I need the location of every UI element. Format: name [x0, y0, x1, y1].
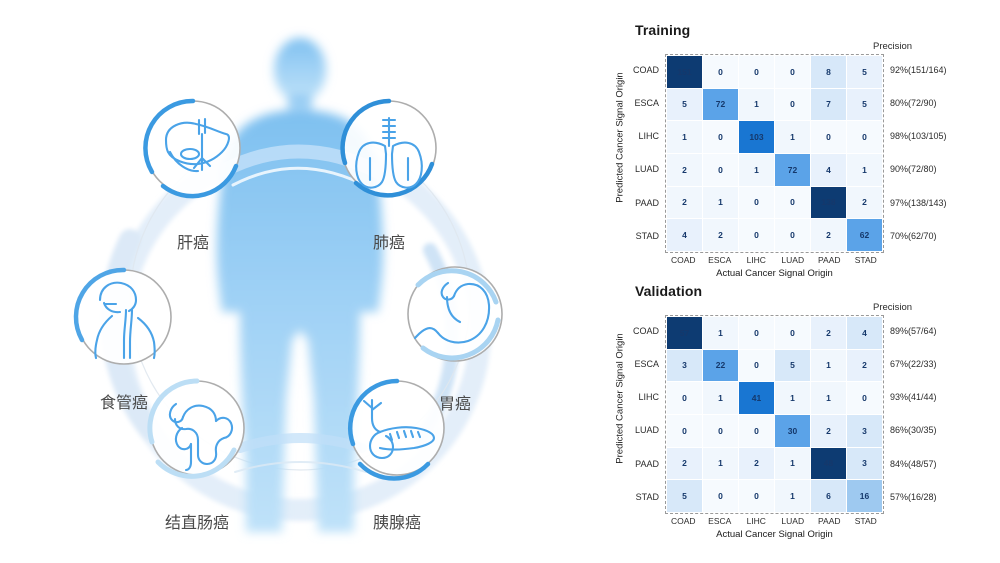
matrix-cell-STAD-ESCA: 0 [703, 480, 739, 513]
illustration-svg: 肝癌 肺癌 [0, 0, 600, 563]
matrix-row: 10103100 [667, 121, 883, 154]
matrix-cell-LUAD-STAD: 1 [847, 153, 883, 186]
matrix-cell-PAAD-PAAD: 138 [811, 186, 847, 219]
col-label-LUAD: LUAD [775, 516, 812, 526]
matrix-cell-LUAD-COAD: 0 [667, 414, 703, 447]
row-label-LUAD: LUAD [618, 153, 663, 186]
matrix-cell-LUAD-LIHC: 1 [739, 153, 775, 186]
validation-row-labels: COADESCALIHCLUADPAADSTAD [618, 315, 663, 514]
matrix-cell-COAD-COAD: 57 [667, 317, 703, 350]
matrix-cell-LIHC-STAD: 0 [847, 382, 883, 415]
validation-precision-header: Precision [873, 302, 912, 313]
matrix-cell-LIHC-COAD: 0 [667, 382, 703, 415]
col-label-PAAD: PAAD [811, 516, 848, 526]
training-col-labels: COADESCALIHCLUADPAADSTAD [665, 255, 884, 265]
matrix-cell-PAAD-LIHC: 2 [739, 447, 775, 480]
matrix-cell-ESCA-STAD: 2 [847, 349, 883, 382]
precision-value-ESCA: 80%(72/90) [890, 87, 1000, 120]
matrix-cell-STAD-LUAD: 0 [775, 219, 811, 252]
matrix-cell-LUAD-LIHC: 0 [739, 414, 775, 447]
matrix-cell-COAD-LIHC: 0 [739, 317, 775, 350]
row-label-STAD: STAD [618, 220, 663, 253]
matrix-cell-ESCA-PAAD: 1 [811, 349, 847, 382]
col-label-LIHC: LIHC [738, 255, 775, 265]
precision-value-LUAD: 86%(30/35) [890, 414, 1000, 447]
training-row-labels: COADESCALIHCLUADPAADSTAD [618, 54, 663, 253]
matrix-cell-COAD-PAAD: 2 [811, 317, 847, 350]
matrix-cell-PAAD-LUAD: 1 [775, 447, 811, 480]
row-label-STAD: STAD [618, 481, 663, 514]
matrix-cell-COAD-COAD: 151 [667, 56, 703, 89]
validation-xaxis-title: Actual Cancer Signal Origin [665, 529, 884, 540]
col-label-COAD: COAD [665, 516, 702, 526]
row-label-LIHC: LIHC [618, 120, 663, 153]
col-label-COAD: COAD [665, 255, 702, 265]
matrix-row: 4200262 [667, 219, 883, 252]
col-label-STAD: STAD [848, 516, 885, 526]
row-label-PAAD: PAAD [618, 187, 663, 220]
matrix-cell-ESCA-COAD: 5 [667, 88, 703, 121]
matrix-cell-LUAD-PAAD: 2 [811, 414, 847, 447]
matrix-cell-PAAD-ESCA: 1 [703, 186, 739, 219]
matrix-cell-COAD-ESCA: 0 [703, 56, 739, 89]
matrix-cell-STAD-ESCA: 2 [703, 219, 739, 252]
matrix-cell-COAD-LUAD: 0 [775, 317, 811, 350]
validation-title: Validation [635, 283, 702, 299]
training-grid: 1510008557210751010310020172412100138242… [665, 54, 884, 253]
precision-value-STAD: 70%(62/70) [890, 220, 1000, 253]
matrix-cell-STAD-STAD: 62 [847, 219, 883, 252]
matrix-cell-LUAD-LUAD: 72 [775, 153, 811, 186]
col-label-STAD: STAD [848, 255, 885, 265]
precision-value-STAD: 57%(16/28) [890, 481, 1000, 514]
node-label-stomach: 胃癌 [439, 394, 471, 413]
validation-precision-values: 89%(57/64)67%(22/33)93%(41/44)86%(30/35)… [890, 315, 1000, 514]
training-title: Training [635, 22, 690, 38]
matrix-row: 5001616 [667, 480, 883, 513]
matrix-cell-LIHC-ESCA: 1 [703, 382, 739, 415]
validation-col-labels: COADESCALIHCLUADPAADSTAD [665, 516, 884, 526]
matrix-cell-PAAD-STAD: 2 [847, 186, 883, 219]
col-label-ESCA: ESCA [702, 516, 739, 526]
matrix-cell-LIHC-LIHC: 103 [739, 121, 775, 154]
matrix-cell-LIHC-COAD: 1 [667, 121, 703, 154]
matrix-cell-ESCA-ESCA: 22 [703, 349, 739, 382]
matrix-cell-LIHC-ESCA: 0 [703, 121, 739, 154]
matrix-cell-LUAD-PAAD: 4 [811, 153, 847, 186]
row-label-LUAD: LUAD [618, 414, 663, 447]
cancer-types-illustration: 肝癌 肺癌 [0, 0, 600, 563]
col-label-PAAD: PAAD [811, 255, 848, 265]
precision-value-PAAD: 97%(138/143) [890, 187, 1000, 220]
col-label-ESCA: ESCA [702, 255, 739, 265]
matrix-cell-COAD-ESCA: 1 [703, 317, 739, 350]
matrix-cell-LUAD-STAD: 3 [847, 414, 883, 447]
confusion-matrices-panel: Training Precision Predicted Cancer Sign… [600, 0, 1000, 563]
precision-value-LUAD: 90%(72/80) [890, 153, 1000, 186]
precision-value-COAD: 89%(57/64) [890, 315, 1000, 348]
precision-value-PAAD: 84%(48/57) [890, 448, 1000, 481]
matrix-cell-PAAD-LIHC: 0 [739, 186, 775, 219]
matrix-row: 0003023 [667, 414, 883, 447]
matrix-cell-ESCA-LIHC: 1 [739, 88, 775, 121]
col-label-LUAD: LUAD [775, 255, 812, 265]
matrix-cell-STAD-PAAD: 6 [811, 480, 847, 513]
matrix-cell-STAD-STAD: 16 [847, 480, 883, 513]
precision-value-ESCA: 67%(22/33) [890, 348, 1000, 381]
matrix-cell-PAAD-COAD: 2 [667, 186, 703, 219]
node-label-lung: 肺癌 [373, 233, 405, 252]
matrix-cell-LIHC-LUAD: 1 [775, 121, 811, 154]
matrix-row: 5721075 [667, 88, 883, 121]
row-label-PAAD: PAAD [618, 448, 663, 481]
matrix-cell-LIHC-LIHC: 41 [739, 382, 775, 415]
matrix-cell-STAD-PAAD: 2 [811, 219, 847, 252]
row-label-LIHC: LIHC [618, 381, 663, 414]
matrix-cell-ESCA-LUAD: 5 [775, 349, 811, 382]
matrix-cell-PAAD-ESCA: 1 [703, 447, 739, 480]
training-xaxis-title: Actual Cancer Signal Origin [665, 268, 884, 279]
matrix-cell-LIHC-PAAD: 0 [811, 121, 847, 154]
matrix-cell-LIHC-STAD: 0 [847, 121, 883, 154]
matrix-cell-STAD-COAD: 5 [667, 480, 703, 513]
matrix-cell-STAD-LIHC: 0 [739, 480, 775, 513]
matrix-cell-STAD-LUAD: 1 [775, 480, 811, 513]
matrix-cell-PAAD-STAD: 3 [847, 447, 883, 480]
matrix-cell-ESCA-LIHC: 0 [739, 349, 775, 382]
node-colorectum[interactable]: 结直肠癌 [150, 381, 244, 532]
row-label-ESCA: ESCA [618, 87, 663, 120]
training-precision-values: 92%(151/164)80%(72/90)98%(103/105)90%(72… [890, 54, 1000, 253]
matrix-cell-LUAD-ESCA: 0 [703, 414, 739, 447]
matrix-cell-LIHC-PAAD: 1 [811, 382, 847, 415]
matrix-cell-ESCA-COAD: 3 [667, 349, 703, 382]
node-label-colorectum: 结直肠癌 [165, 513, 229, 532]
matrix-row: 2121483 [667, 447, 883, 480]
node-label-pancreas: 胰腺癌 [373, 513, 421, 532]
matrix-cell-COAD-STAD: 4 [847, 317, 883, 350]
matrix-cell-ESCA-STAD: 5 [847, 88, 883, 121]
node-label-liver: 肝癌 [177, 233, 209, 252]
matrix-cell-ESCA-LUAD: 0 [775, 88, 811, 121]
matrix-cell-LUAD-LUAD: 30 [775, 414, 811, 447]
matrix-cell-COAD-STAD: 5 [847, 56, 883, 89]
matrix-cell-PAAD-COAD: 2 [667, 447, 703, 480]
row-label-COAD: COAD [618, 315, 663, 348]
matrix-cell-STAD-LIHC: 0 [739, 219, 775, 252]
matrix-cell-ESCA-PAAD: 7 [811, 88, 847, 121]
precision-value-LIHC: 98%(103/105) [890, 120, 1000, 153]
matrix-row: 5710024 [667, 317, 883, 350]
matrix-cell-PAAD-LUAD: 0 [775, 186, 811, 219]
matrix-row: 21001382 [667, 186, 883, 219]
matrix-cell-STAD-COAD: 4 [667, 219, 703, 252]
matrix-cell-COAD-LUAD: 0 [775, 56, 811, 89]
row-label-ESCA: ESCA [618, 348, 663, 381]
precision-value-LIHC: 93%(41/44) [890, 381, 1000, 414]
matrix-row: 3220512 [667, 349, 883, 382]
row-label-COAD: COAD [618, 54, 663, 87]
matrix-row: 0141110 [667, 382, 883, 415]
validation-table: 5710024322051201411100003023212148350016… [666, 316, 883, 513]
matrix-cell-LIHC-LUAD: 1 [775, 382, 811, 415]
matrix-cell-COAD-LIHC: 0 [739, 56, 775, 89]
training-table: 1510008557210751010310020172412100138242… [666, 55, 883, 252]
validation-grid: 5710024322051201411100003023212148350016… [665, 315, 884, 514]
matrix-cell-LUAD-ESCA: 0 [703, 153, 739, 186]
node-label-esophagus: 食管癌 [100, 393, 148, 412]
training-precision-header: Precision [873, 41, 912, 52]
col-label-LIHC: LIHC [738, 516, 775, 526]
matrix-cell-PAAD-PAAD: 48 [811, 447, 847, 480]
matrix-row: 2017241 [667, 153, 883, 186]
matrix-cell-COAD-PAAD: 8 [811, 56, 847, 89]
matrix-cell-ESCA-ESCA: 72 [703, 88, 739, 121]
matrix-cell-LUAD-COAD: 2 [667, 153, 703, 186]
precision-value-COAD: 92%(151/164) [890, 54, 1000, 87]
matrix-row: 15100085 [667, 56, 883, 89]
